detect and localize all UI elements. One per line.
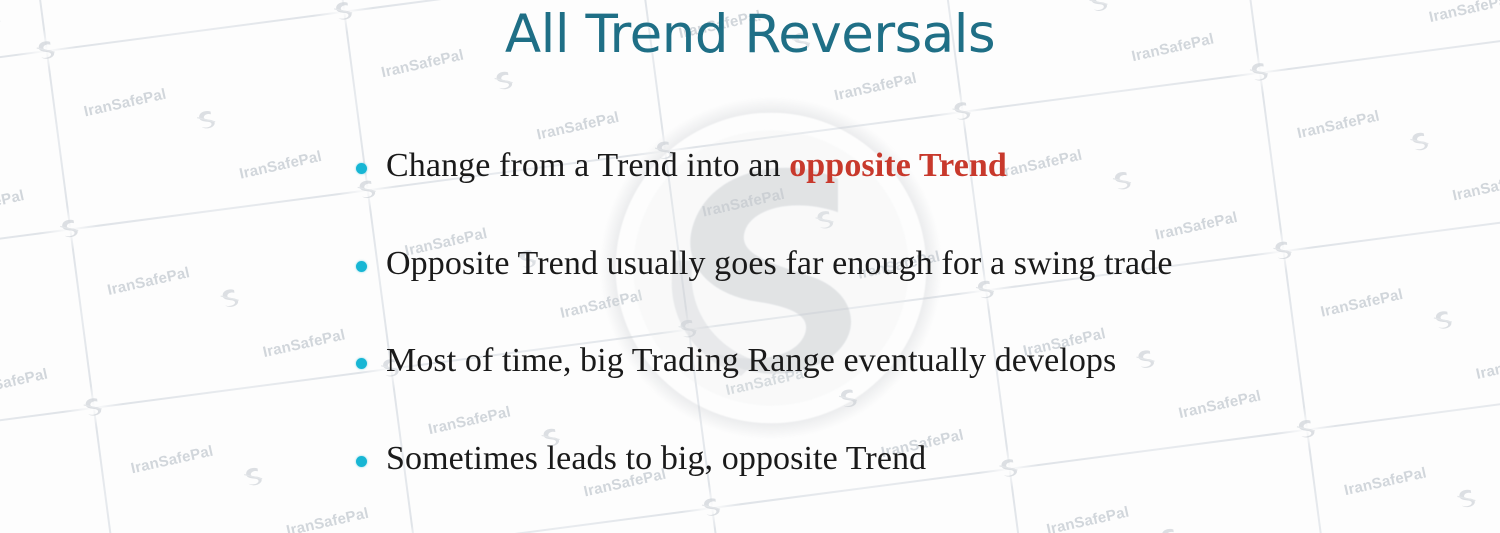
bullet-dot-icon [356,261,367,272]
bullet-dot-icon [356,358,367,369]
page-title: All Trend Reversals [0,7,1500,63]
bullet-list: Change from a Trend into an opposite Tre… [356,146,1456,533]
bullet-text-lead: Sometimes leads to big, opposite Trend [386,440,926,477]
bullet-text: Sometimes leads to big, opposite Trend [386,439,1456,479]
bullet-dot-icon [356,163,367,174]
bullet-text-lead: Most of time, big Trading Range eventual… [386,342,1116,379]
bullet-text-lead: Opposite Trend usually goes far enough f… [386,245,1173,282]
bullet-text: Opposite Trend usually goes far enough f… [386,244,1456,284]
slide-content: All Trend Reversals Change from a Trend … [0,0,1500,533]
bullet-dot-icon [356,456,367,467]
list-item: Most of time, big Trading Range eventual… [356,341,1456,439]
bullet-text-emphasis: opposite Trend [789,147,1007,184]
list-item: Sometimes leads to big, opposite Trend [356,439,1456,533]
list-item: Opposite Trend usually goes far enough f… [356,244,1456,342]
list-item: Change from a Trend into an opposite Tre… [356,146,1456,244]
bullet-text-lead: Change from a Trend into an [386,147,789,184]
slide-canvas: IranSafePalIranSafePalIranSafePalIranSaf… [0,0,1500,533]
bullet-text: Change from a Trend into an opposite Tre… [386,146,1456,186]
bullet-text: Most of time, big Trading Range eventual… [386,341,1456,381]
